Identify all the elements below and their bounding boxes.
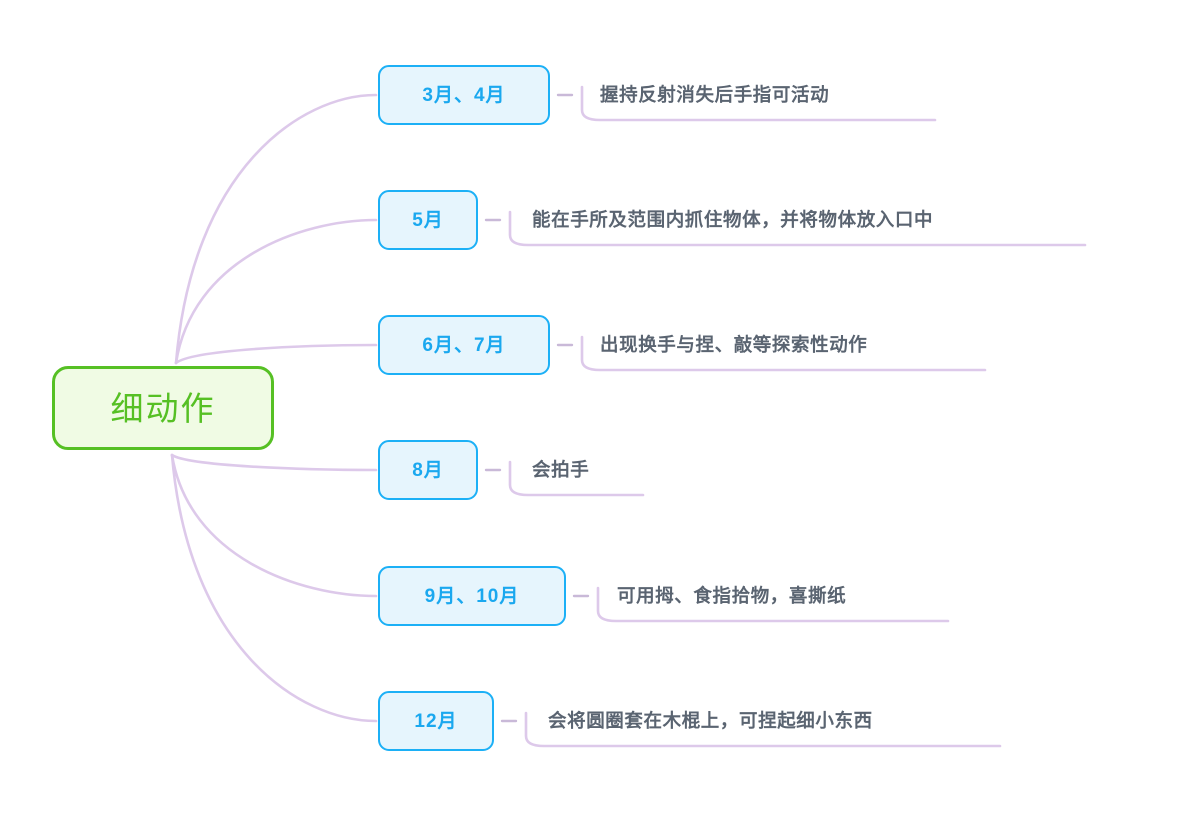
month-node[interactable]: 3月、4月	[378, 65, 550, 125]
root-branch-connector	[172, 455, 376, 470]
month-node[interactable]: 8月	[378, 440, 478, 500]
branch-description[interactable]: 会拍手	[532, 461, 589, 480]
root-node[interactable]: 细动作	[52, 366, 274, 450]
root-branch-connector	[176, 345, 376, 363]
root-branch-connector	[176, 95, 376, 363]
month-node-label: 3月、4月	[422, 86, 505, 105]
root-node-label: 细动作	[111, 392, 216, 425]
root-branch-connector	[172, 455, 376, 596]
branch-description[interactable]: 握持反射消失后手指可活动	[600, 86, 829, 105]
month-node[interactable]: 5月	[378, 190, 478, 250]
month-node[interactable]: 12月	[378, 691, 494, 751]
month-node-label: 8月	[412, 461, 444, 480]
month-node[interactable]: 9月、10月	[378, 566, 566, 626]
branch-description[interactable]: 能在手所及范围内抓住物体，并将物体放入口中	[532, 211, 933, 230]
branch-description[interactable]: 可用拇、食指拾物，喜撕纸	[617, 587, 846, 606]
month-node-label: 6月、7月	[422, 336, 505, 355]
branch-description[interactable]: 会将圆圈套在木棍上，可捏起细小东西	[548, 712, 873, 731]
mindmap-canvas: 细动作 3月、4月握持反射消失后手指可活动5月能在手所及范围内抓住物体，并将物体…	[0, 0, 1197, 816]
month-node-label: 12月	[414, 712, 457, 731]
month-node-label: 5月	[412, 211, 444, 230]
month-node[interactable]: 6月、7月	[378, 315, 550, 375]
month-node-label: 9月、10月	[425, 587, 520, 606]
root-branch-connector	[172, 455, 376, 721]
branch-description[interactable]: 出现换手与捏、敲等探索性动作	[600, 336, 867, 355]
root-branch-connector	[176, 220, 376, 363]
